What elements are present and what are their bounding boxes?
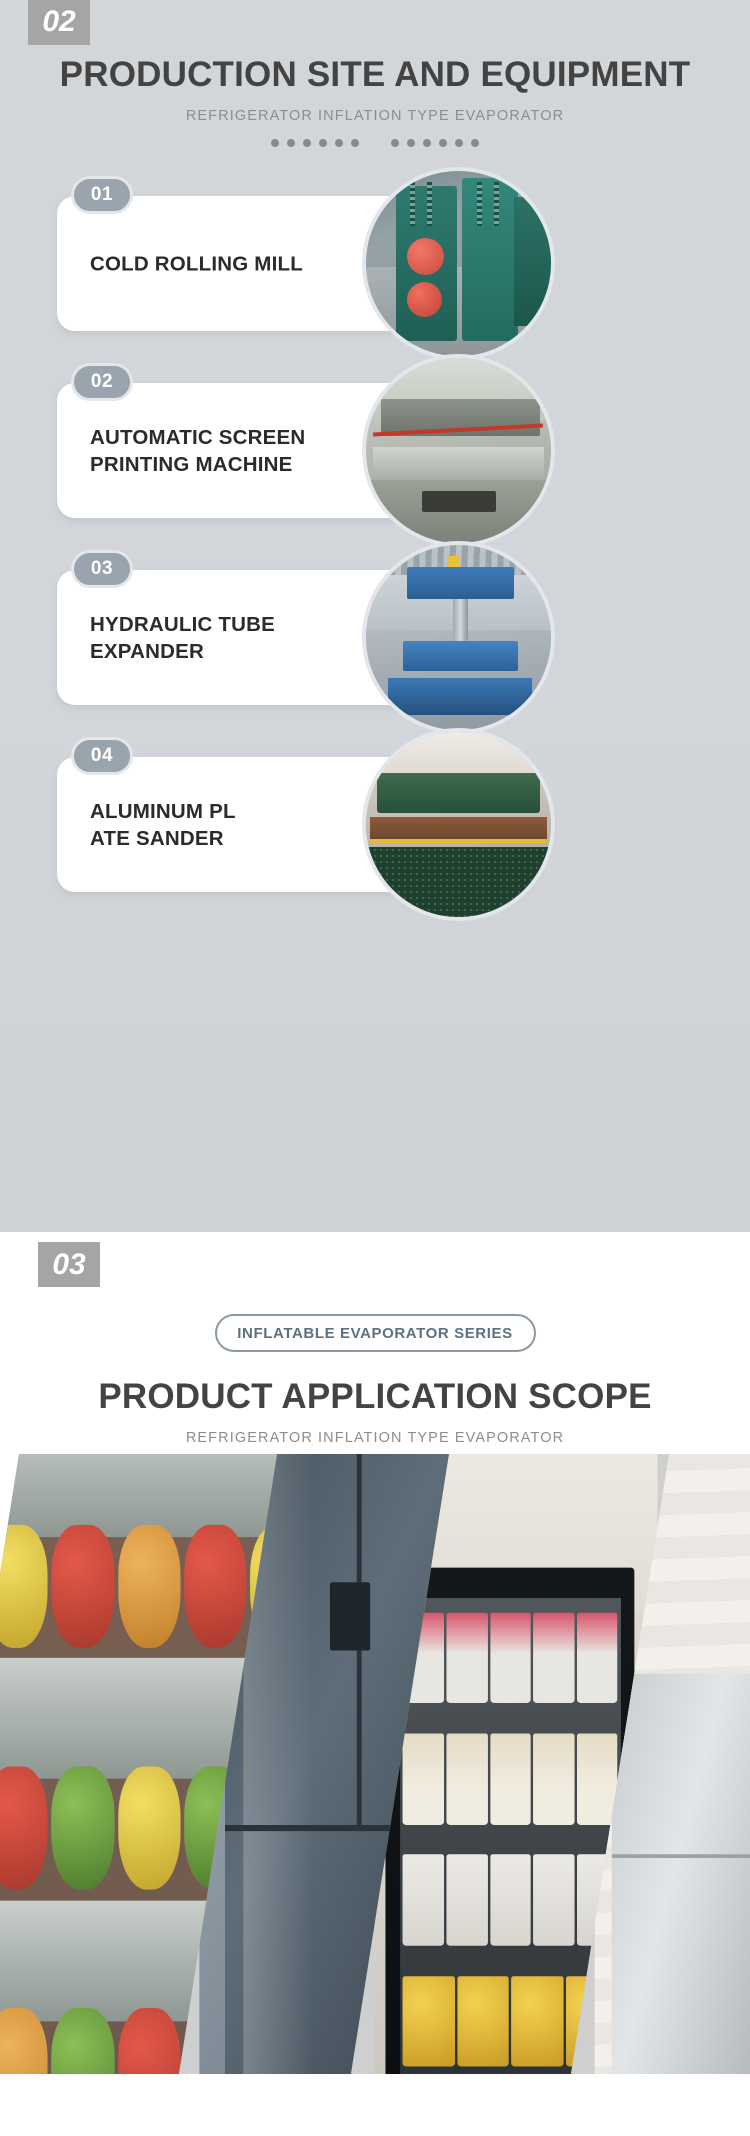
series-pill-label: INFLATABLE EVAPORATOR SERIES	[215, 1314, 536, 1352]
dot-icon	[351, 139, 359, 147]
equipment-section-header: PRODUCTION SITE AND EQUIPMENT REFRIGERAT…	[0, 57, 750, 147]
equipment-card[interactable]: 04 ALUMINUM PL ATE SANDER	[57, 757, 487, 892]
equipment-card-label: HYDRAULIC TUBE EXPANDER	[90, 610, 340, 664]
dot-group-right	[391, 139, 479, 147]
cold-rolling-mill-photo	[362, 167, 555, 360]
scope-section-header: INFLATABLE EVAPORATOR SERIES PRODUCT APP…	[0, 1314, 750, 1469]
dot-icon	[319, 139, 327, 147]
dot-icon	[455, 139, 463, 147]
page-title: PRODUCT APPLICATION SCOPE	[0, 1379, 750, 1414]
dot-divider	[0, 139, 750, 147]
dot-icon	[407, 139, 415, 147]
product-application-section: 03 INFLATABLE EVAPORATOR SERIES PRODUCT …	[0, 1232, 750, 2136]
dot-group-left	[271, 139, 359, 147]
page-subtitle: REFRIGERATOR INFLATION TYPE EVAPORATOR	[0, 1431, 750, 1446]
application-gallery	[0, 1494, 750, 2024]
aluminum-plate-sander-photo	[362, 728, 555, 921]
dot-icon	[335, 139, 343, 147]
dot-icon	[391, 139, 399, 147]
equipment-card-number: 04	[71, 737, 133, 775]
dot-icon	[303, 139, 311, 147]
section-number-badge: 03	[38, 1242, 100, 1287]
dot-icon	[439, 139, 447, 147]
dot-icon	[271, 139, 279, 147]
equipment-card-number: 02	[71, 363, 133, 401]
dot-icon	[423, 139, 431, 147]
equipment-card-label: ALUMINUM PL ATE SANDER	[90, 797, 340, 851]
section-number-badge: 02	[28, 0, 90, 45]
equipment-card-label: AUTOMATIC SCREEN PRINTING MACHINE	[90, 423, 340, 477]
equipment-card-number: 03	[71, 550, 133, 588]
dot-icon	[287, 139, 295, 147]
equipment-card[interactable]: 03 HYDRAULIC TUBE EXPANDER	[57, 570, 487, 705]
dot-icon	[471, 139, 479, 147]
equipment-card-label: COLD ROLLING MILL	[90, 250, 340, 277]
hydraulic-tube-expander-photo	[362, 541, 555, 734]
page-title: PRODUCTION SITE AND EQUIPMENT	[0, 57, 750, 92]
equipment-card-number: 01	[71, 176, 133, 214]
equipment-card[interactable]: 02 AUTOMATIC SCREEN PRINTING MACHINE	[57, 383, 487, 518]
production-equipment-section: 02 PRODUCTION SITE AND EQUIPMENT REFRIGE…	[0, 0, 750, 1232]
screen-printing-machine-photo	[362, 354, 555, 547]
equipment-card[interactable]: 01 COLD ROLLING MILL	[57, 196, 487, 331]
page-subtitle: REFRIGERATOR INFLATION TYPE EVAPORATOR	[0, 109, 750, 124]
